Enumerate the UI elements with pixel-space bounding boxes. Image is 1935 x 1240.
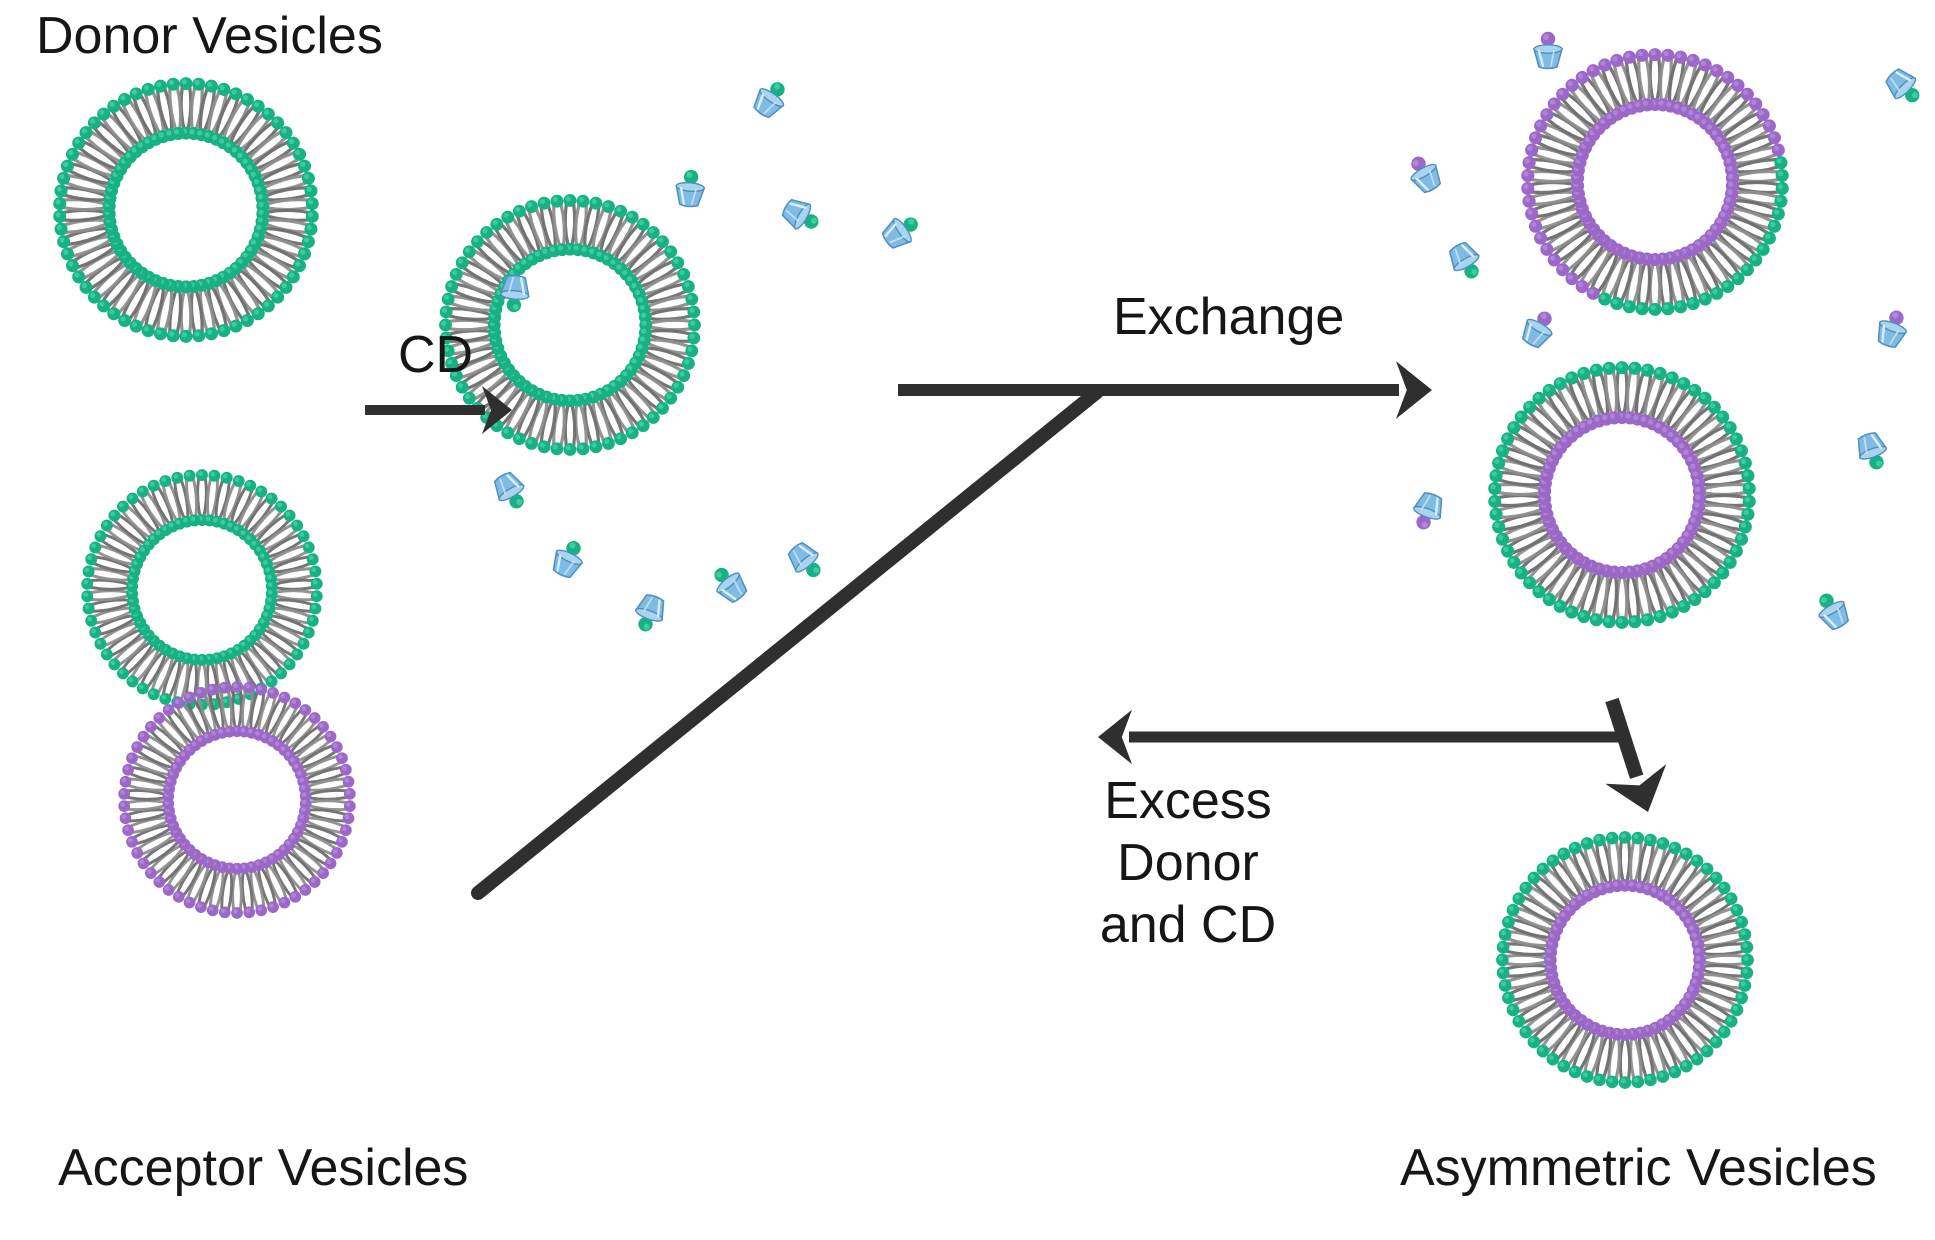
- label-line: Excess: [1100, 770, 1276, 832]
- label-asymmetric-vesicles: Asymmetric Vesicles: [1400, 1138, 1877, 1198]
- label-donor-vesicles: Donor Vesicles: [36, 6, 383, 66]
- arrow-exchange-arrow: [898, 361, 1432, 419]
- arrow-layer: [0, 0, 1935, 1240]
- arrow-acceptor-feed: [478, 392, 1097, 893]
- label-excess-donor-and-cd: ExcessDonorand CD: [1100, 770, 1276, 956]
- arrow-cd-arrow: [365, 386, 512, 434]
- label-acceptor-vesicles: Acceptor Vesicles: [58, 1138, 468, 1198]
- label-line: and CD: [1100, 894, 1276, 956]
- label-exchange-step: Exchange: [1113, 287, 1344, 347]
- label-line: Donor: [1100, 832, 1276, 894]
- label-cd-step: CD: [398, 325, 473, 385]
- arrow-recycle-arrow: [1098, 710, 1622, 764]
- schematic-canvas: Donor VesiclesCDExchangeAcceptor Vesicle…: [0, 0, 1935, 1240]
- arrow-product-arrow: [1605, 700, 1666, 812]
